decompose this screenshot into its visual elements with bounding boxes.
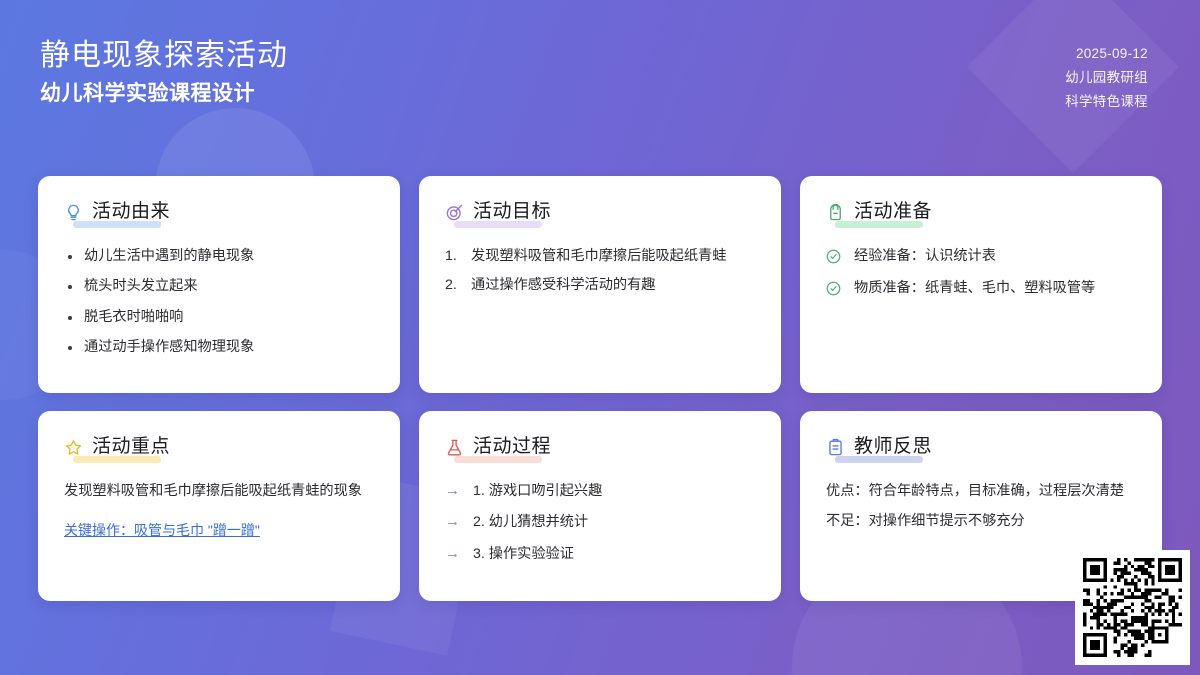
card-focus[interactable]: 活动重点 发现塑料吸管和毛巾摩擦后能吸起纸青蛙的现象 关键操作：吸管与毛巾 "蹭… <box>38 411 400 601</box>
origin-list: 幼儿生活中遇到的静电现象 梳头时头发立起来 脱毛衣时啪啪响 通过动手操作感知物理… <box>64 244 374 360</box>
card-process-title: 活动过程 <box>473 437 551 458</box>
backpack-icon <box>826 203 845 222</box>
card-origin-body: 幼儿生活中遇到的静电现象 梳头时头发立起来 脱毛衣时啪啪响 通过动手操作感知物理… <box>64 244 374 360</box>
qr-code[interactable] <box>1075 550 1190 665</box>
list-item: 梳头时头发立起来 <box>64 274 374 298</box>
card-goals-heading: 活动目标 <box>445 202 551 228</box>
card-grid: 活动由来 幼儿生活中遇到的静电现象 梳头时头发立起来 脱毛衣时啪啪响 通过动手操… <box>38 176 1162 601</box>
slide-header: 静电现象探索活动 幼儿科学实验课程设计 2025-09-12 幼儿园教研组 科学… <box>0 0 1200 160</box>
card-origin-heading: 活动由来 <box>64 202 170 228</box>
list-item-label: 经验准备：认识统计表 <box>854 248 996 264</box>
card-origin-title: 活动由来 <box>92 202 170 223</box>
list-item: 经验准备：认识统计表 <box>826 244 1136 268</box>
list-item: 通过动手操作感知物理现象 <box>64 335 374 359</box>
list-item: → 2. 幼儿猜想并统计 <box>445 510 755 534</box>
list-item: 通过操作感受科学活动的有趣 <box>445 273 755 297</box>
card-origin[interactable]: 活动由来 幼儿生活中遇到的静电现象 梳头时头发立起来 脱毛衣时啪啪响 通过动手操… <box>38 176 400 393</box>
list-item-label: 2. 幼儿猜想并统计 <box>473 514 588 530</box>
arrow-right-icon: → <box>445 511 460 534</box>
list-item: → 3. 操作实验验证 <box>445 542 755 566</box>
preparation-list: 经验准备：认识统计表 物质准备：纸青蛙、毛巾、塑料吸管等 <box>826 244 1136 301</box>
check-circle-icon <box>826 248 841 263</box>
card-reflection-body: 优点：符合年龄特点，目标准确，过程层次清楚 不足：对操作细节提示不够充分 <box>826 479 1136 534</box>
meta-organization: 幼儿园教研组 <box>1065 68 1148 89</box>
title-block: 静电现象探索活动 幼儿科学实验课程设计 <box>40 38 288 107</box>
meta-date: 2025-09-12 <box>1076 44 1148 65</box>
card-process-body: → 1. 游戏口吻引起兴趣 → 2. 幼儿猜想并统计 → 3. 操作实验验证 <box>445 479 755 566</box>
header-meta: 2025-09-12 幼儿园教研组 科学特色课程 <box>1065 38 1148 113</box>
card-focus-body: 发现塑料吸管和毛巾摩擦后能吸起纸青蛙的现象 关键操作：吸管与毛巾 "蹭一蹭" <box>64 479 374 544</box>
process-list: → 1. 游戏口吻引起兴趣 → 2. 幼儿猜想并统计 → 3. 操作实验验证 <box>445 479 755 566</box>
qr-code-graphic <box>1083 558 1182 657</box>
list-item-label: 3. 操作实验验证 <box>473 546 574 562</box>
card-goals-body: 发现塑料吸管和毛巾摩擦后能吸起纸青蛙 通过操作感受科学活动的有趣 <box>445 244 755 298</box>
focus-key-operation-link[interactable]: 关键操作：吸管与毛巾 "蹭一蹭" <box>64 519 260 541</box>
card-focus-title: 活动重点 <box>92 437 170 458</box>
card-preparation[interactable]: 活动准备 经验准备：认识统计表 <box>800 176 1162 393</box>
card-goals[interactable]: 活动目标 发现塑料吸管和毛巾摩擦后能吸起纸青蛙 通过操作感受科学活动的有趣 <box>419 176 781 393</box>
star-icon <box>64 438 83 457</box>
list-item-label: 1. 游戏口吻引起兴趣 <box>473 483 602 499</box>
page-title: 静电现象探索活动 <box>40 38 288 74</box>
clipboard-icon <box>826 438 845 457</box>
card-goals-title: 活动目标 <box>473 202 551 223</box>
reflection-strength: 优点：符合年龄特点，目标准确，过程层次清楚 <box>826 479 1136 503</box>
list-item: 发现塑料吸管和毛巾摩擦后能吸起纸青蛙 <box>445 244 755 268</box>
card-preparation-body: 经验准备：认识统计表 物质准备：纸青蛙、毛巾、塑料吸管等 <box>826 244 1136 301</box>
target-icon <box>445 203 464 222</box>
list-item: 物质准备：纸青蛙、毛巾、塑料吸管等 <box>826 276 1136 300</box>
list-item: 脱毛衣时啪啪响 <box>64 305 374 329</box>
focus-paragraph: 发现塑料吸管和毛巾摩擦后能吸起纸青蛙的现象 <box>64 479 374 503</box>
arrow-right-icon: → <box>445 543 460 566</box>
lightbulb-icon <box>64 203 83 222</box>
goals-list: 发现塑料吸管和毛巾摩擦后能吸起纸青蛙 通过操作感受科学活动的有趣 <box>445 244 755 298</box>
list-item: 幼儿生活中遇到的静电现象 <box>64 244 374 268</box>
card-reflection-title: 教师反思 <box>854 437 932 458</box>
list-item: → 1. 游戏口吻引起兴趣 <box>445 479 755 503</box>
card-process[interactable]: 活动过程 → 1. 游戏口吻引起兴趣 → 2. 幼儿猜想并统计 → 3. 操作实… <box>419 411 781 601</box>
meta-course: 科学特色课程 <box>1065 92 1148 113</box>
reflection-weakness: 不足：对操作细节提示不够充分 <box>826 509 1136 533</box>
card-focus-heading: 活动重点 <box>64 437 170 463</box>
card-preparation-heading: 活动准备 <box>826 202 932 228</box>
page-subtitle: 幼儿科学实验课程设计 <box>40 80 288 107</box>
flask-icon <box>445 438 464 457</box>
card-reflection-heading: 教师反思 <box>826 437 932 463</box>
check-circle-icon <box>826 280 841 295</box>
slide-canvas: 静电现象探索活动 幼儿科学实验课程设计 2025-09-12 幼儿园教研组 科学… <box>0 0 1200 675</box>
list-item-label: 物质准备：纸青蛙、毛巾、塑料吸管等 <box>854 280 1095 296</box>
card-process-heading: 活动过程 <box>445 437 551 463</box>
arrow-right-icon: → <box>445 480 460 503</box>
card-preparation-title: 活动准备 <box>854 202 932 223</box>
